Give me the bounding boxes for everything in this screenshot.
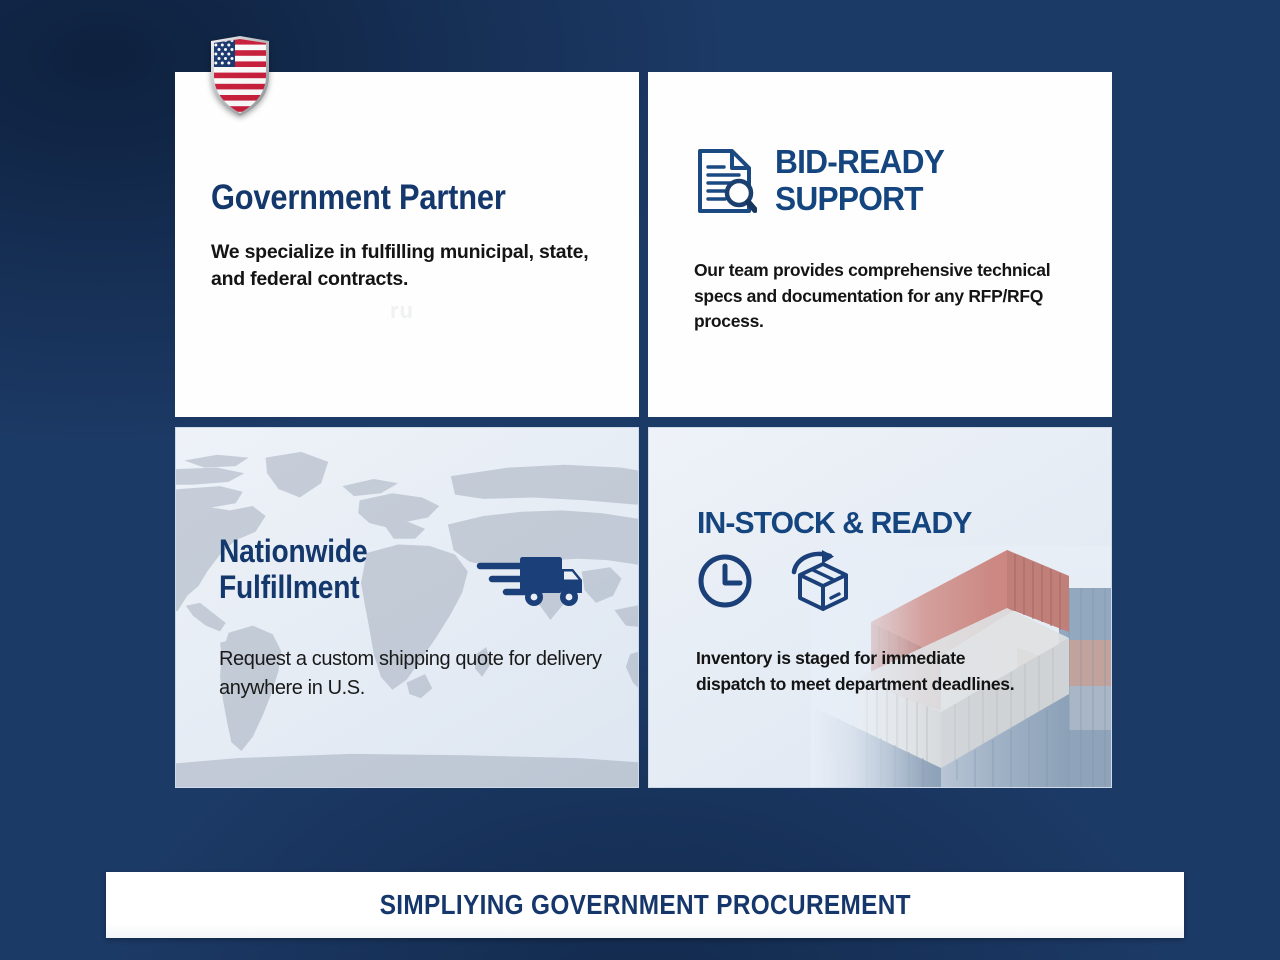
card-title-in-stock-and-ready: IN-STOCK & READY: [697, 505, 972, 541]
feature-card-grid: Government Partner We specialize in fulf…: [175, 72, 1106, 788]
card-body-government-partner: We specialize in fulfilling municipal, s…: [211, 239, 605, 294]
document-search-icon: [695, 147, 757, 220]
card-body-nationwide-fulfillment: Request a custom shipping quote for deli…: [219, 645, 619, 703]
card-nationwide-fulfillment[interactable]: Nationwide Fulfillment Request a cus: [175, 427, 639, 788]
card-body-in-stock-and-ready: Inventory is staged for immediate dispat…: [696, 646, 1026, 698]
delivery-truck-icon: [476, 550, 582, 613]
card-bid-ready-support[interactable]: BID-READY SUPPORT Our team provides comp…: [648, 72, 1112, 417]
rotating-box-icon: [782, 550, 852, 617]
faint-watermark: ru: [390, 298, 414, 324]
card-government-partner[interactable]: Government Partner We specialize in fulf…: [175, 72, 639, 417]
card-title-bid-ready-support: BID-READY SUPPORT: [775, 144, 944, 218]
card-header-bid-ready: BID-READY SUPPORT: [695, 144, 951, 220]
bottom-banner[interactable]: SIMPLIYING GOVERNMENT PROCUREMENT: [106, 872, 1184, 938]
card-icons-in-stock: [696, 550, 852, 617]
clock-icon: [696, 552, 754, 615]
card-title-line-1: BID-READY: [775, 144, 944, 181]
card-body-bid-ready-support: Our team provides comprehensive technica…: [694, 258, 1060, 335]
card-in-stock-and-ready[interactable]: IN-STOCK & READY Inve: [648, 427, 1112, 788]
card-title-line-2: SUPPORT: [775, 181, 944, 218]
card-title-government-partner: Government Partner: [211, 180, 558, 217]
banner-text: SIMPLIYING GOVERNMENT PROCUREMENT: [379, 889, 910, 921]
us-flag-shield-icon: [208, 36, 272, 116]
